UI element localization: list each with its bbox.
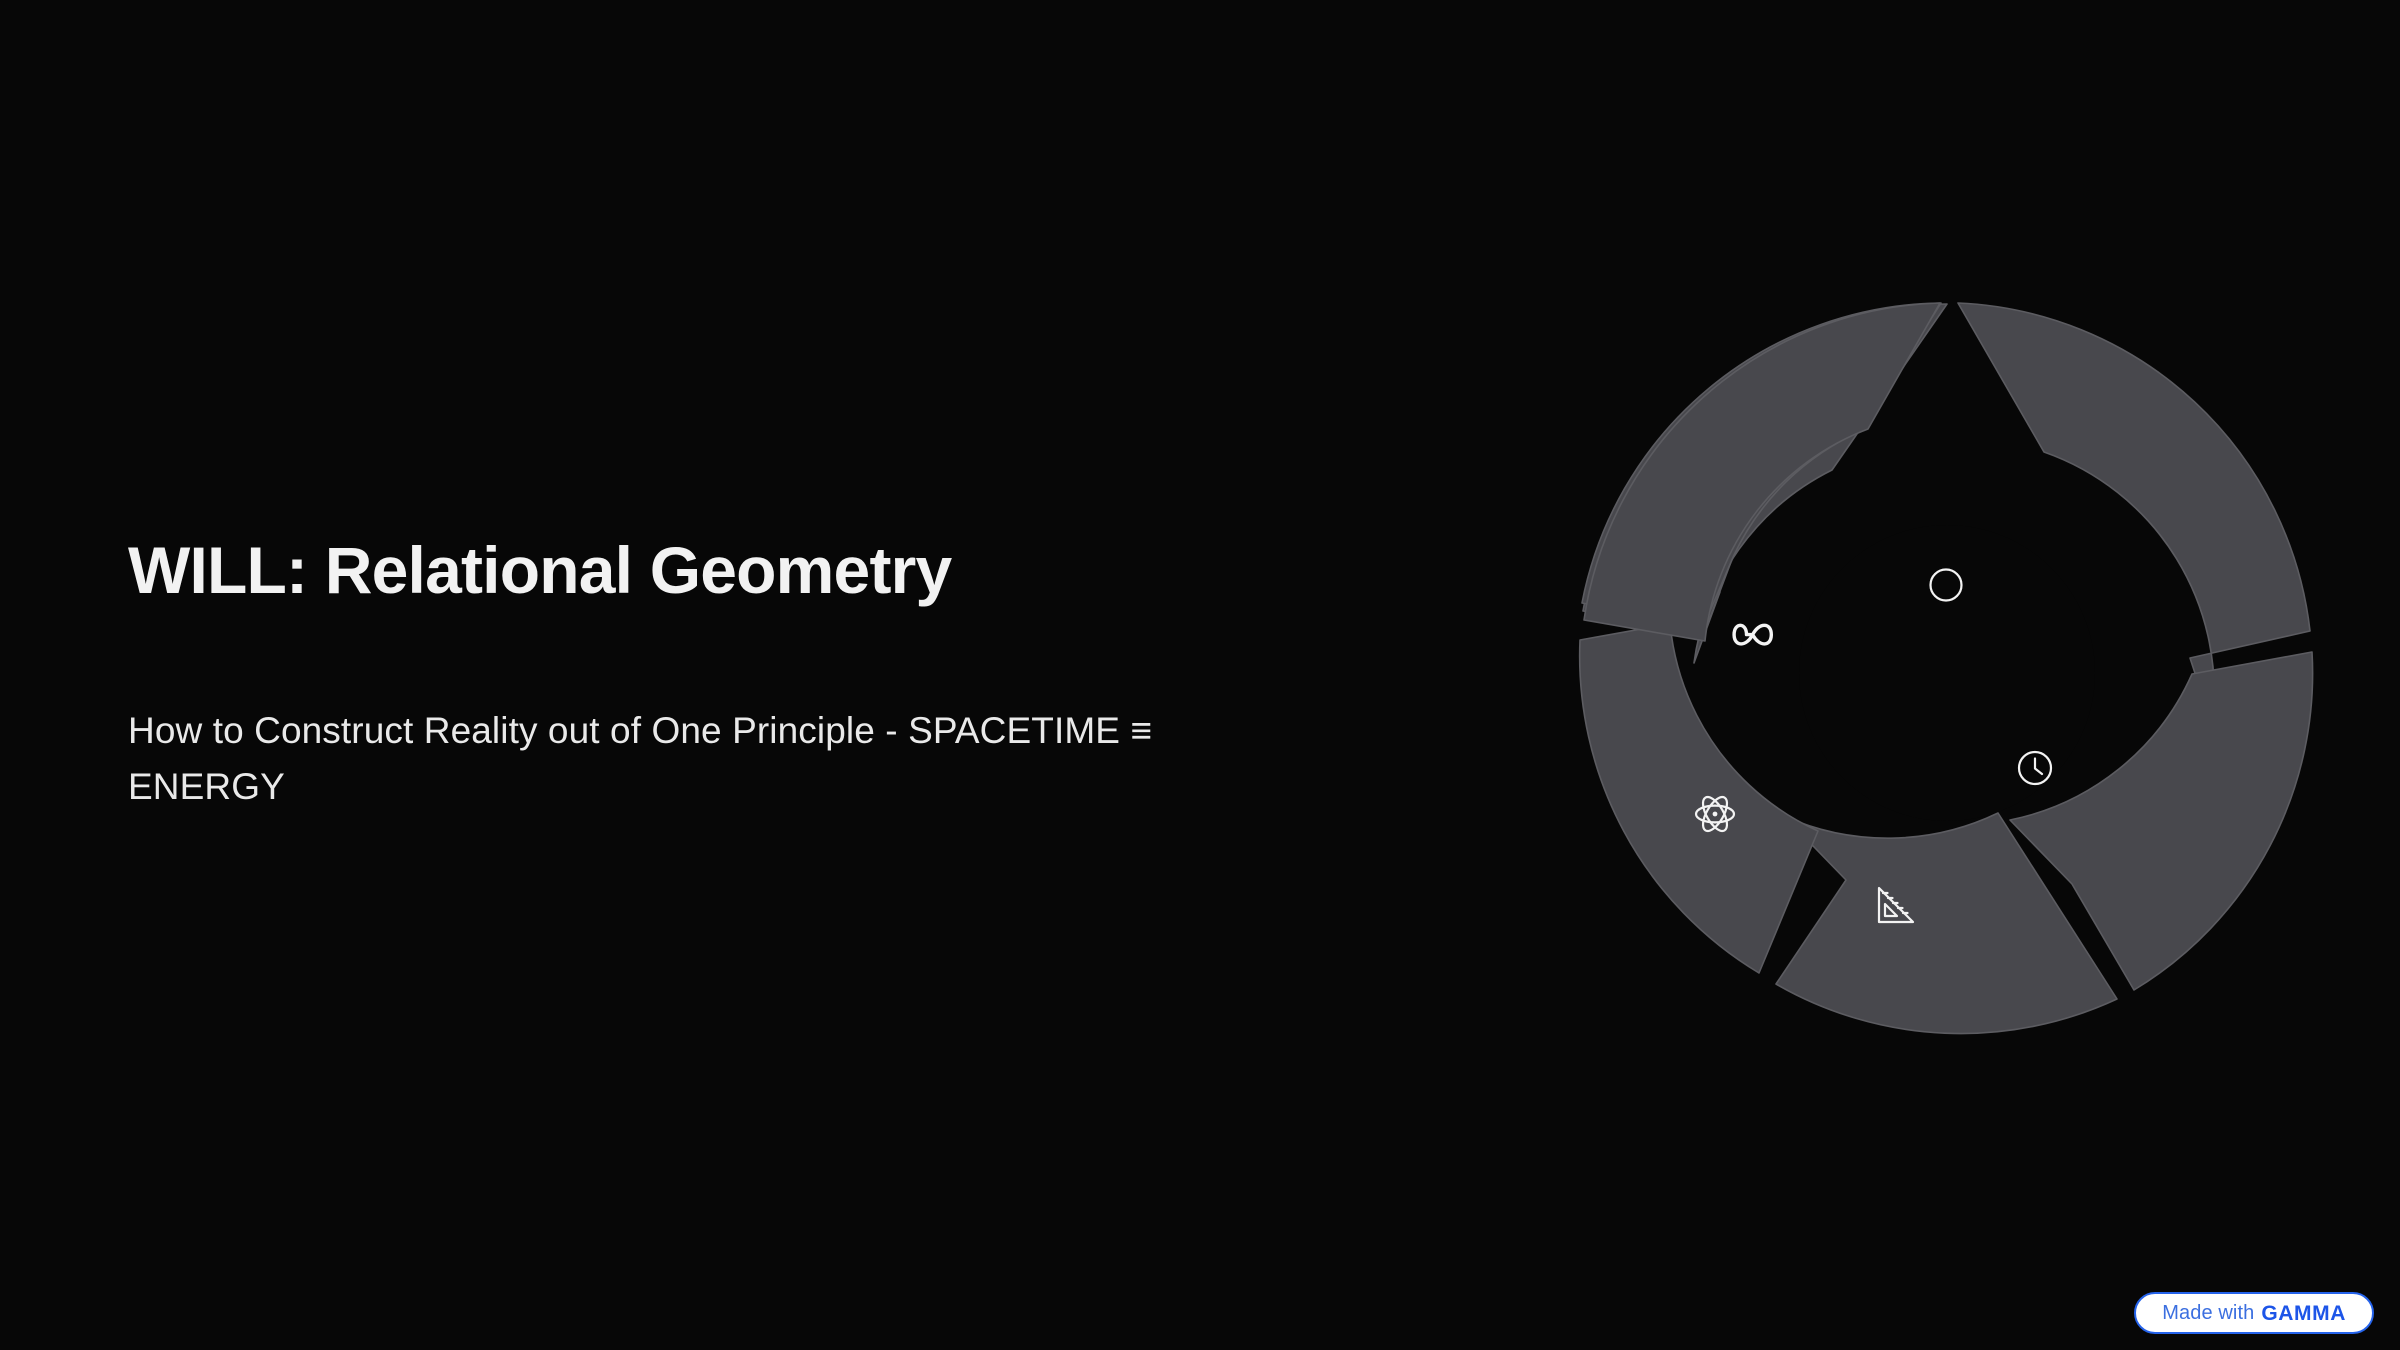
badge-brand-label: GAMMA xyxy=(2261,1303,2346,1324)
badge-prefix-label: Made with xyxy=(2162,1303,2254,1323)
page-title: WILL: Relational Geometry xyxy=(128,535,1248,606)
slide-root: WILL: Relational Geometry How to Constru… xyxy=(0,0,2400,1350)
title-block: WILL: Relational Geometry How to Constru… xyxy=(128,0,1248,1350)
infinity-icon xyxy=(1734,625,1771,644)
page-subtitle: How to Construct Reality out of One Prin… xyxy=(128,703,1158,815)
made-with-gamma-badge[interactable]: Made with GAMMA xyxy=(2134,1292,2374,1334)
radial-wheel-diagram xyxy=(1574,300,2320,1046)
wheel xyxy=(1580,303,2313,1034)
